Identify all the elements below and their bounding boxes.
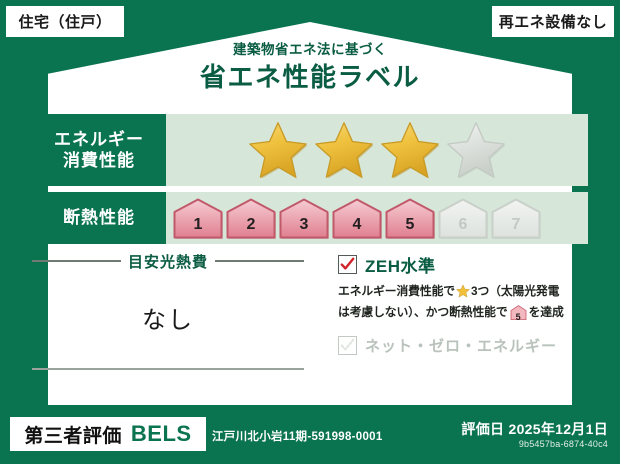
zeh-title-row: ZEH水準: [338, 252, 578, 277]
insulation-performance-row: 断熱性能 1234567: [32, 192, 588, 244]
net-zero-checkbox-unchecked-icon[interactable]: [338, 336, 357, 355]
star-filled-icon: [379, 120, 441, 180]
footer-bar: 第三者評価 BELS 江戸川北小岩11期-591998-0001 評価日 202…: [0, 408, 620, 464]
insulation-performance-label: 断熱性能: [32, 192, 166, 244]
bels-energy-label: 住宅（住戸） 再エネ設備なし 建築物省エネ法に基づく 省エネ性能ラベル エネルギ…: [0, 0, 620, 464]
rule-left: [32, 260, 121, 262]
insulation-level-empty: 7: [490, 197, 542, 239]
zeh-checkbox-checked-icon[interactable]: [338, 255, 357, 274]
evaluation-date: 評価日 2025年12月1日: [461, 419, 608, 439]
insulation-level-empty: 6: [437, 197, 489, 239]
inline-insulation-badge-icon: 5: [510, 305, 527, 325]
insulation-level-filled: 4: [331, 197, 383, 239]
insulation-level-filled: 5: [384, 197, 436, 239]
zeh-description: エネルギー消費性能で 3つ（太陽光発電 は考慮しない）、かつ断熱性能で 5 を達…: [338, 282, 578, 326]
utility-cost-heading-row: 目安光熱費: [32, 252, 304, 270]
net-zero-energy-row: ネット・ゼロ・エネルギー: [338, 335, 578, 356]
star-empty-icon: [445, 120, 507, 180]
insulation-level-scale: 1234567: [172, 197, 542, 239]
zeh-desc-part1: エネルギー消費性能で: [338, 284, 455, 298]
evaluation-hash: 9b5457ba-6874-40c4: [519, 439, 608, 449]
star-rating: [247, 120, 507, 180]
utility-cost-bottom-rule: [32, 368, 304, 370]
zeh-block: ZEH水準 エネルギー消費性能で 3つ（太陽光発電 は考慮しない）、かつ断熱性能…: [338, 252, 578, 356]
energy-performance-label: エネルギー 消費性能: [32, 114, 166, 186]
star-filled-icon: [313, 120, 375, 180]
header-subtitle: 建築物省エネ法に基づく: [0, 38, 620, 58]
energy-performance-value: [166, 114, 588, 186]
energy-label-line1: エネルギー: [54, 129, 144, 150]
building-id: 江戸川北小岩11期-591998-0001: [212, 428, 383, 444]
utility-cost-block: 目安光熱費 なし: [32, 252, 304, 400]
insulation-level-filled: 3: [278, 197, 330, 239]
bels-badge-jp-label: 第三者評価: [24, 421, 122, 448]
utility-cost-heading: 目安光熱費: [128, 251, 208, 272]
zeh-desc-part2: は考慮しない）、かつ断熱性能で: [338, 305, 508, 319]
utility-cost-value: なし: [32, 300, 304, 335]
net-zero-energy-label: ネット・ゼロ・エネルギー: [365, 335, 557, 356]
insulation-performance-value: 1234567: [166, 192, 588, 244]
inline-star-icon: [456, 284, 470, 303]
energy-performance-row: エネルギー 消費性能: [32, 114, 588, 186]
inline-badge-value: 5: [510, 311, 527, 325]
insulation-level-filled: 1: [172, 197, 224, 239]
zeh-title: ZEH水準: [365, 252, 436, 277]
rule-right: [215, 260, 304, 262]
star-filled-icon: [247, 120, 309, 180]
zeh-desc-part3: を達成: [529, 305, 564, 319]
tag-dwelling-type: 住宅（住戸）: [6, 6, 124, 37]
zeh-desc-stars: 3つ（太陽光発電: [471, 284, 559, 298]
energy-label-line2: 消費性能: [63, 150, 135, 171]
page-title: 省エネ性能ラベル: [0, 57, 620, 94]
bels-badge: 第三者評価 BELS: [10, 417, 206, 451]
insulation-level-filled: 2: [225, 197, 277, 239]
tag-renewable-equipment: 再エネ設備なし: [492, 6, 614, 37]
bels-badge-en-label: BELS: [131, 421, 192, 447]
